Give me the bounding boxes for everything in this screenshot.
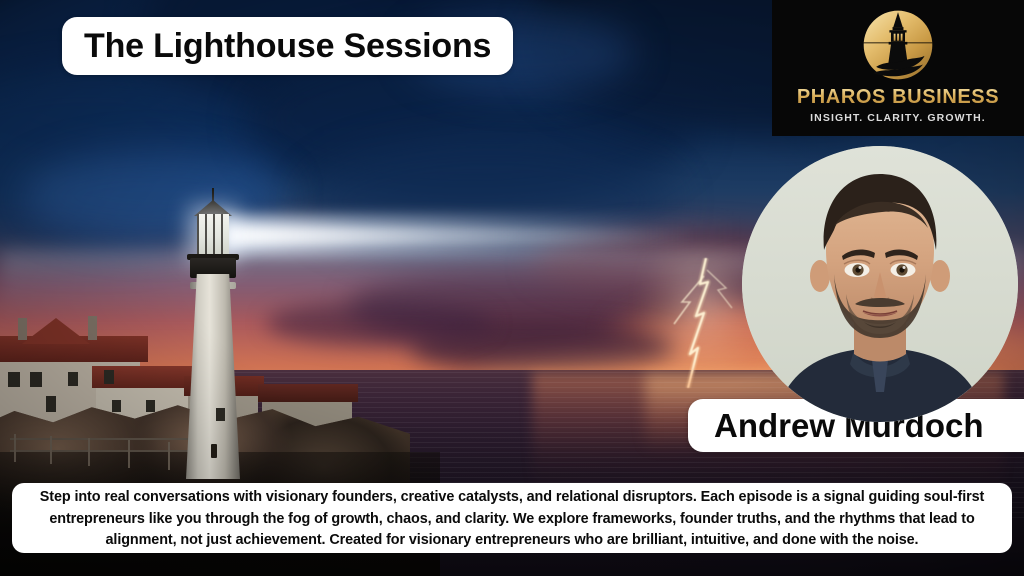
podcast-cover-poster: The Lighthouse Sessions xyxy=(0,0,1024,576)
lantern-bars xyxy=(197,214,229,256)
avatar xyxy=(742,146,1018,422)
lighthouse-light-beam-core xyxy=(228,228,698,244)
description-box: Step into real conversations with vision… xyxy=(12,483,1012,553)
lighthouse-logo-icon xyxy=(859,6,937,84)
brand-name: PHAROS BUSINESS xyxy=(797,86,999,109)
show-title-badge: The Lighthouse Sessions xyxy=(62,17,513,75)
lightning-bolt-icon xyxy=(660,258,750,388)
page-title: The Lighthouse Sessions xyxy=(84,27,491,66)
description-text: Step into real conversations with vision… xyxy=(40,489,984,548)
tower-window xyxy=(211,444,217,458)
brand-logo-panel: PHAROS BUSINESS INSIGHT. CLARITY. GROWTH… xyxy=(772,0,1024,136)
host-portrait-illustration xyxy=(742,146,1018,422)
fence xyxy=(10,432,190,478)
brand-tagline: INSIGHT. CLARITY. GROWTH. xyxy=(810,112,986,124)
